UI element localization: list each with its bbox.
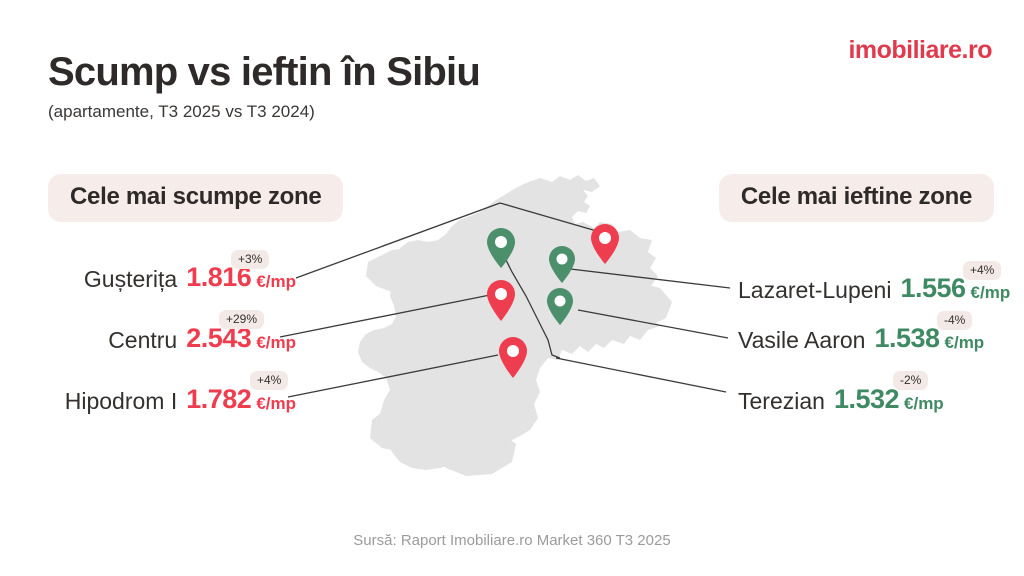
badge-expensive-1: +29%	[219, 310, 264, 329]
map-internal-border	[502, 252, 560, 358]
zone-value: 1.532	[834, 386, 899, 413]
zone-unit: €/mp	[256, 395, 296, 412]
imobiliare-logo[interactable]: imobiliare.ro	[848, 36, 992, 65]
source-note: Sursă: Raport Imobiliare.ro Market 360 T…	[0, 532, 1024, 549]
page-subtitle: (apartamente, T3 2025 vs T3 2024)	[48, 102, 315, 122]
map-pin-green-3[interactable]	[547, 288, 573, 325]
zone-name: Lazaret-Lupeni	[738, 279, 891, 302]
connector-hipodrom	[288, 355, 498, 397]
section-label-expensive: Cele mai scumpe zone	[48, 174, 343, 222]
zone-name: Hipodrom I	[65, 390, 177, 413]
zone-name: Vasile Aaron	[738, 329, 865, 352]
row-cheap-2: Terezian 1.532 €/mp	[738, 386, 944, 413]
badge-cheap-0: +4%	[963, 261, 1001, 280]
connector-gusterita-upper	[500, 203, 600, 232]
map-detail-east	[608, 282, 672, 328]
map-pin-green-1[interactable]	[487, 228, 515, 268]
zone-name: Terezian	[738, 390, 825, 413]
map-silhouette	[358, 179, 661, 470]
map-pin-red-3[interactable]	[499, 337, 527, 378]
zone-value: 1.556	[900, 275, 965, 302]
zone-value: 1.782	[186, 386, 251, 413]
map-detail-west	[366, 248, 430, 292]
zone-unit: €/mp	[256, 334, 296, 351]
map-detail-north	[526, 175, 600, 204]
map-pin-red-1[interactable]	[591, 224, 619, 264]
connector-centru	[280, 295, 490, 337]
section-label-cheap: Cele mai ieftine zone	[719, 174, 994, 222]
zone-unit: €/mp	[256, 273, 296, 290]
zone-unit: €/mp	[945, 334, 985, 351]
connector-terezian	[556, 358, 726, 392]
map-pin-red-2[interactable]	[487, 280, 515, 321]
page-title: Scump vs ieftin în Sibiu	[48, 50, 480, 95]
badge-cheap-2: -2%	[893, 371, 928, 390]
map-detail-southwest	[370, 396, 444, 452]
badge-cheap-1: -4%	[937, 311, 972, 330]
badge-expensive-0: +3%	[231, 250, 269, 269]
zone-name: Centru	[108, 329, 177, 352]
zone-unit: €/mp	[971, 284, 1011, 301]
connector-vasile-aaron	[578, 310, 728, 338]
zone-value: 2.543	[186, 325, 251, 352]
badge-expensive-2: +4%	[250, 371, 288, 390]
zone-unit: €/mp	[904, 395, 944, 412]
map-pin-green-2[interactable]	[549, 246, 575, 283]
row-expensive-2: Hipodrom I 1.782 €/mp	[65, 386, 296, 413]
infographic-canvas: Scump vs ieftin în Sibiu (apartamente, T…	[0, 0, 1024, 576]
zone-value: 1.538	[874, 325, 939, 352]
row-expensive-1: Centru 2.543 €/mp	[108, 325, 296, 352]
map-detail-south	[436, 428, 516, 476]
zone-name: Gușterița	[84, 268, 177, 291]
connector-lazaret	[562, 268, 730, 288]
